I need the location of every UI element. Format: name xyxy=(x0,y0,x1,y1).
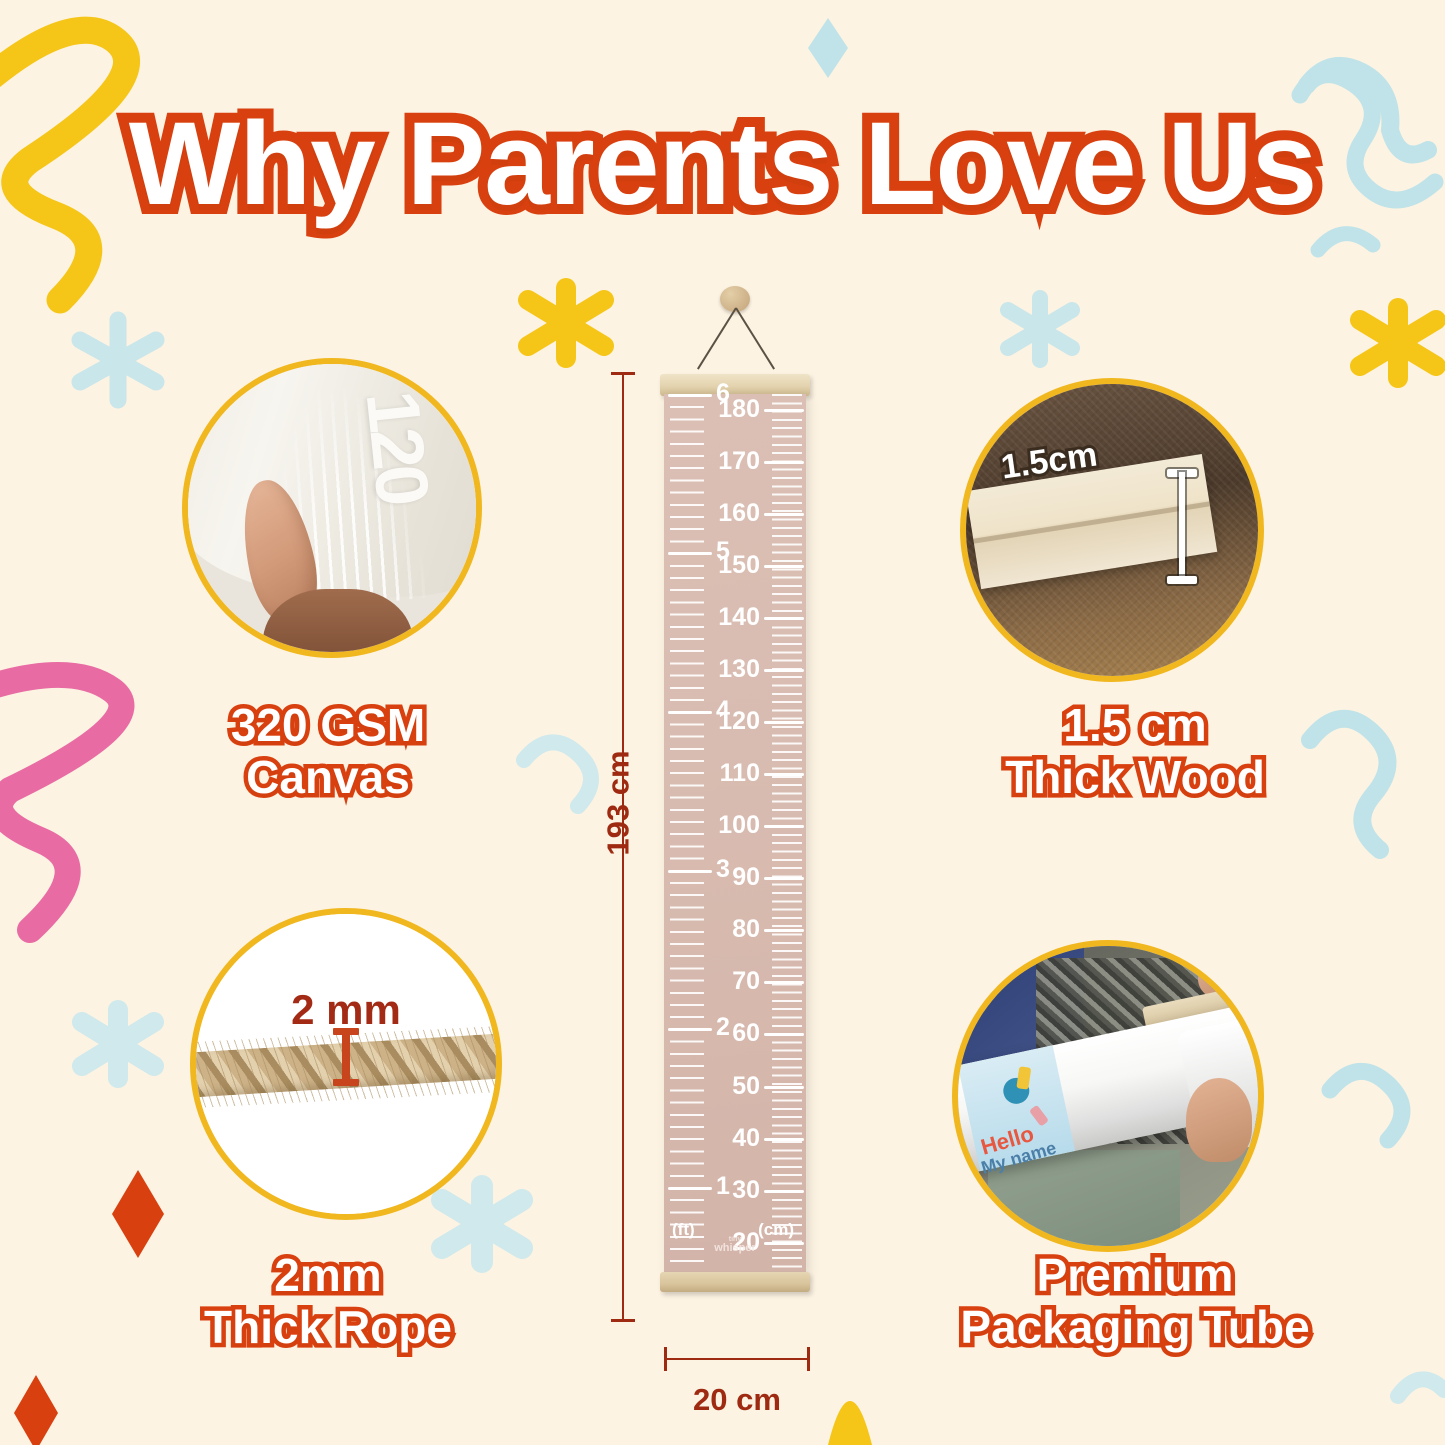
feature-caption-wood: 1.5 cm Thick Wood xyxy=(910,700,1360,803)
packaging-tube-photo: Hello My name xyxy=(952,940,1264,1252)
rope-measure-ibeam-icon xyxy=(333,1028,359,1086)
cm-major-tick xyxy=(764,877,804,880)
wood-photo-scene: 1.5cm xyxy=(966,384,1258,676)
cm-minor-ticks xyxy=(772,394,802,1274)
squiggle-blue-left xyxy=(1318,234,1373,250)
top-wooden-dowel xyxy=(660,374,810,396)
growth-chart-product: 1801701601501401301201101009080706050403… xyxy=(660,286,810,1316)
cm-major-tick xyxy=(764,929,804,932)
page-title: Why Parents Love Us xyxy=(0,96,1445,232)
cm-label: 160 xyxy=(718,499,760,528)
squiggle-pink-left xyxy=(0,675,121,930)
cm-label: 140 xyxy=(718,603,760,632)
cm-major-tick xyxy=(764,565,804,568)
feet-label: 3 xyxy=(716,855,730,884)
canvas-photo-scene: 120 xyxy=(188,364,476,652)
feet-label: 2 xyxy=(716,1013,730,1042)
tube-confetti-decor-1 xyxy=(1017,1066,1032,1089)
canvas-number-overlay: 120 xyxy=(349,387,445,507)
asterisk-blue-upperright xyxy=(1008,298,1072,360)
cm-major-tick xyxy=(764,1190,804,1193)
infographic-canvas: Why Parents Love Us 120 1.5cm 2 mm xyxy=(0,0,1445,1445)
asterisk-blue-left xyxy=(80,320,156,400)
hanging-string xyxy=(735,308,736,309)
jute-rope-photo: 2 mm xyxy=(190,908,502,1220)
diamond-blue-top xyxy=(808,18,848,78)
cm-major-tick xyxy=(764,409,804,412)
asterisk-yellow-center xyxy=(528,288,604,358)
cm-label: 80 xyxy=(732,915,760,944)
cm-label: 130 xyxy=(718,655,760,684)
cm-label: 100 xyxy=(718,811,760,840)
squiggle-blue-bottomright xyxy=(1330,1071,1402,1140)
cm-major-tick xyxy=(764,461,804,464)
feet-label: 4 xyxy=(716,696,730,725)
cm-major-tick xyxy=(764,617,804,620)
wood-measure-ibeam-icon xyxy=(1167,469,1197,584)
feet-label: 6 xyxy=(716,379,730,408)
string-left xyxy=(697,307,737,369)
cm-major-tick xyxy=(764,1242,804,1245)
cm-label: 30 xyxy=(732,1176,760,1205)
cm-major-tick xyxy=(764,825,804,828)
height-dimension-label: 193 cm xyxy=(601,750,637,855)
width-dimension-label: 20 cm xyxy=(664,1382,810,1418)
cm-label: 110 xyxy=(720,759,760,788)
wooden-dowel-photo: 1.5cm xyxy=(960,378,1264,682)
feet-major-tick xyxy=(668,711,712,714)
unit-label-cm: (cm) xyxy=(758,1220,794,1240)
feature-caption-tube: Premium Packaging Tube xyxy=(890,1250,1380,1353)
tube-confetti-decor-2 xyxy=(1029,1105,1049,1127)
width-dimension-line xyxy=(664,1358,810,1360)
cm-major-tick xyxy=(764,669,804,672)
cm-label: 50 xyxy=(732,1072,760,1101)
cm-label: 60 xyxy=(732,1019,760,1048)
feet-major-tick xyxy=(668,1187,712,1190)
feet-major-tick xyxy=(668,394,712,397)
feet-minor-ticks xyxy=(670,394,704,1274)
cm-label: 70 xyxy=(732,967,760,996)
rope-photo-scene: 2 mm xyxy=(196,914,496,1214)
unit-label-ft: (ft) xyxy=(672,1220,695,1240)
rope-thickness-label: 2 mm xyxy=(291,986,401,1034)
cm-label: 170 xyxy=(718,447,760,476)
cm-major-tick xyxy=(764,1086,804,1089)
tube-photo-scene: Hello My name xyxy=(958,946,1258,1246)
triangle-yellow-bottom xyxy=(828,1401,872,1445)
cm-major-tick xyxy=(764,773,804,776)
tube-hand-bottom xyxy=(1186,1078,1252,1162)
feet-major-tick xyxy=(668,552,712,555)
feature-caption-canvas: 320 GSM Canvas xyxy=(118,700,538,803)
squiggle-blue-bottomcorner xyxy=(1398,1379,1444,1396)
cm-major-tick xyxy=(764,721,804,724)
asterisk-blue-bottomleft xyxy=(82,1010,154,1078)
feet-label: 1 xyxy=(716,1172,730,1201)
feet-label: 5 xyxy=(716,537,730,566)
feet-major-tick xyxy=(668,870,712,873)
diamond-orange-corner xyxy=(14,1375,58,1445)
growth-chart-canvas: 1801701601501401301201101009080706050403… xyxy=(664,394,806,1274)
string-right xyxy=(735,307,775,369)
diamond-orange-bottomleft xyxy=(112,1170,164,1258)
bottom-wooden-dowel xyxy=(660,1272,810,1292)
feature-caption-rope: 2mm Thick Rope xyxy=(118,1250,538,1353)
cm-major-tick xyxy=(764,981,804,984)
brand-line-2: whisper xyxy=(714,1243,756,1254)
cm-label: 90 xyxy=(732,863,760,892)
asterisk-yellow-right xyxy=(1360,308,1436,378)
cm-major-tick xyxy=(764,1138,804,1141)
brand-logo: tiny whisper xyxy=(714,1236,756,1254)
cm-label: 40 xyxy=(732,1124,760,1153)
hand-holding-canvas-photo: 120 xyxy=(182,358,482,658)
cm-major-tick xyxy=(764,513,804,516)
tube-label-band: Hello My name xyxy=(958,1045,1076,1171)
